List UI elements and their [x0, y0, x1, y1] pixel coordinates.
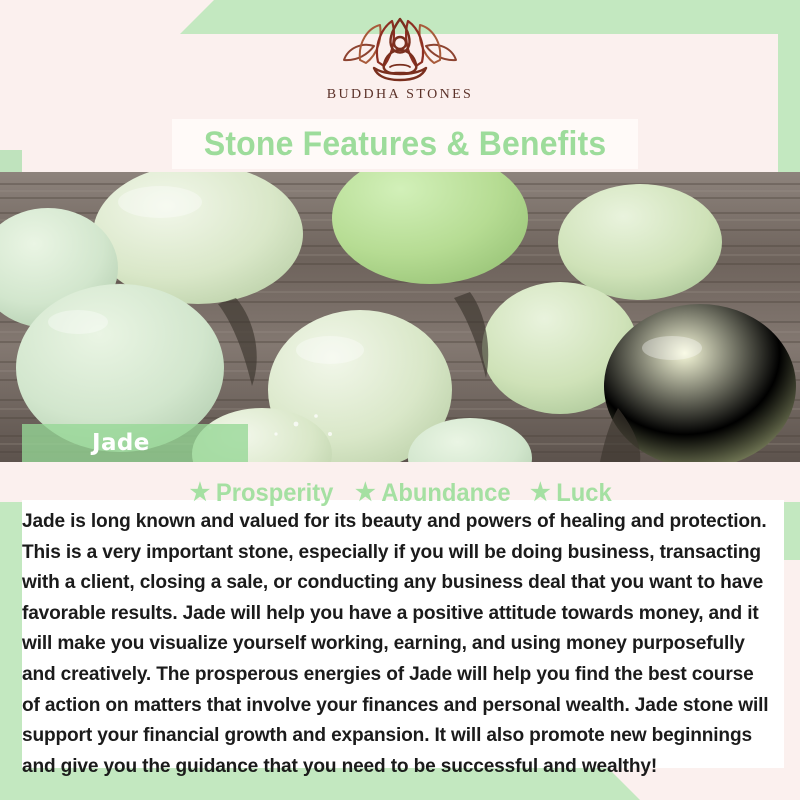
- star-icon: ★: [531, 481, 551, 505]
- page-title: Stone Features & Benefits: [204, 125, 607, 164]
- benefit-label: Abundance: [381, 479, 510, 508]
- benefit-label: Prosperity: [216, 479, 333, 508]
- benefit-item: ★ Luck: [531, 479, 613, 508]
- stone-info-card: BUDDHA STONES Stone Features & Benefits: [0, 0, 800, 800]
- stone-photo: [0, 172, 800, 462]
- benefits-row: ★ Prosperity ★ Abundance ★ Luck: [0, 478, 800, 508]
- logo: BUDDHA STONES: [327, 16, 473, 103]
- lotus-meditation-icon: [334, 16, 466, 82]
- stone-name-label: Jade: [22, 424, 248, 462]
- star-icon: ★: [189, 481, 209, 505]
- star-icon: ★: [355, 481, 375, 505]
- brand-name: BUDDHA STONES: [327, 87, 473, 103]
- title-banner: Stone Features & Benefits: [172, 119, 638, 169]
- stone-name-text: Jade: [92, 430, 150, 456]
- description-text: Jade is long known and valued for its be…: [22, 506, 773, 781]
- benefit-item: ★ Prosperity: [189, 479, 333, 508]
- description-block: Jade is long known and valued for its be…: [22, 506, 773, 781]
- brand-header: BUDDHA STONES: [0, 0, 800, 118]
- benefit-item: ★ Abundance: [355, 479, 510, 508]
- benefit-label: Luck: [557, 479, 612, 508]
- stone-photo-image: [0, 172, 800, 462]
